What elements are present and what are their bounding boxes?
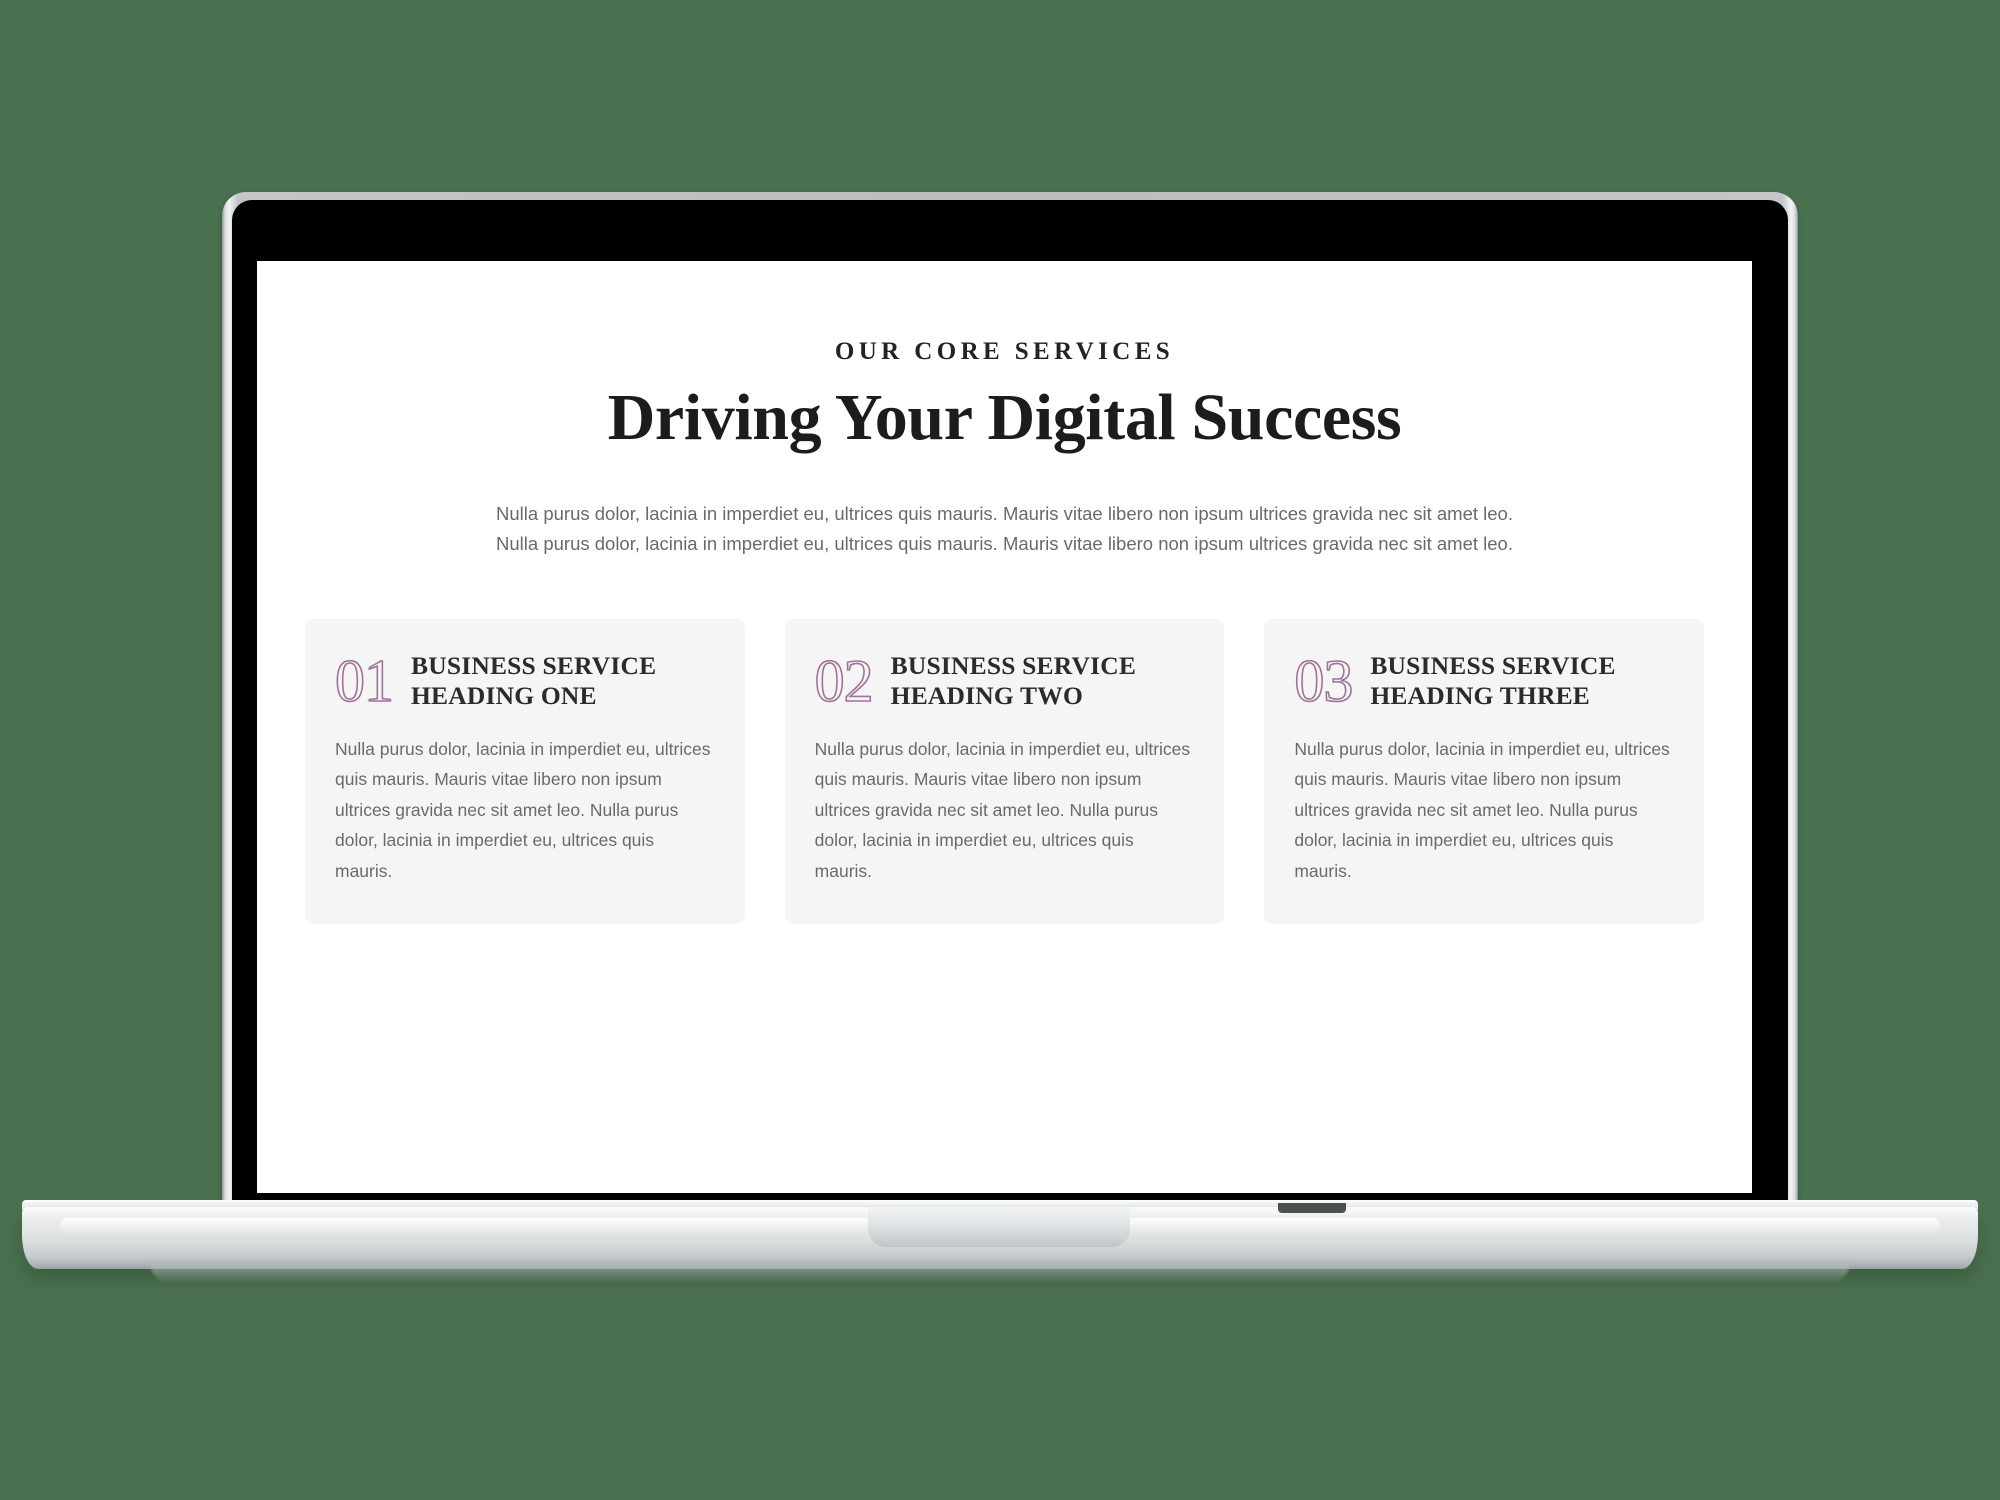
laptop-screen: OUR CORE SERVICES Driving Your Digital S… [257,261,1752,1193]
laptop-base-shadow [150,1262,1850,1284]
service-card-number: 03 [1294,651,1352,711]
service-card-body: Nulla purus dolor, lacinia in imperdiet … [335,734,715,886]
service-card[interactable]: 01 Business Service Heading One Nulla pu… [305,619,745,924]
service-card-body: Nulla purus dolor, lacinia in imperdiet … [815,734,1195,886]
section-eyebrow: OUR CORE SERVICES [257,337,1752,367]
laptop-mockup: OUR CORE SERVICES Driving Your Digital S… [0,0,2000,1500]
service-card-header: 03 Business Service Heading Three [1294,651,1674,712]
service-card-title: Business Service Heading Two [891,651,1195,712]
service-card-header: 01 Business Service Heading One [335,651,715,712]
section-intro-paragraph: Nulla purus dolor, lacinia in imperdiet … [490,499,1520,559]
service-card-list: 01 Business Service Heading One Nulla pu… [257,619,1752,924]
service-card-body: Nulla purus dolor, lacinia in imperdiet … [1294,734,1674,886]
service-card-number: 01 [335,651,393,711]
page-title: Driving Your Digital Success [257,381,1752,455]
service-card[interactable]: 03 Business Service Heading Three Nulla … [1264,619,1704,924]
service-card-title: Business Service Heading One [411,651,715,712]
service-card-title: Business Service Heading Three [1370,651,1674,712]
service-card-number: 02 [815,651,873,711]
service-card[interactable]: 02 Business Service Heading Two Nulla pu… [785,619,1225,924]
service-card-header: 02 Business Service Heading Two [815,651,1195,712]
webpage-content: OUR CORE SERVICES Driving Your Digital S… [257,261,1752,924]
laptop-base-notch [868,1207,1130,1247]
laptop-base-port [1278,1203,1346,1213]
